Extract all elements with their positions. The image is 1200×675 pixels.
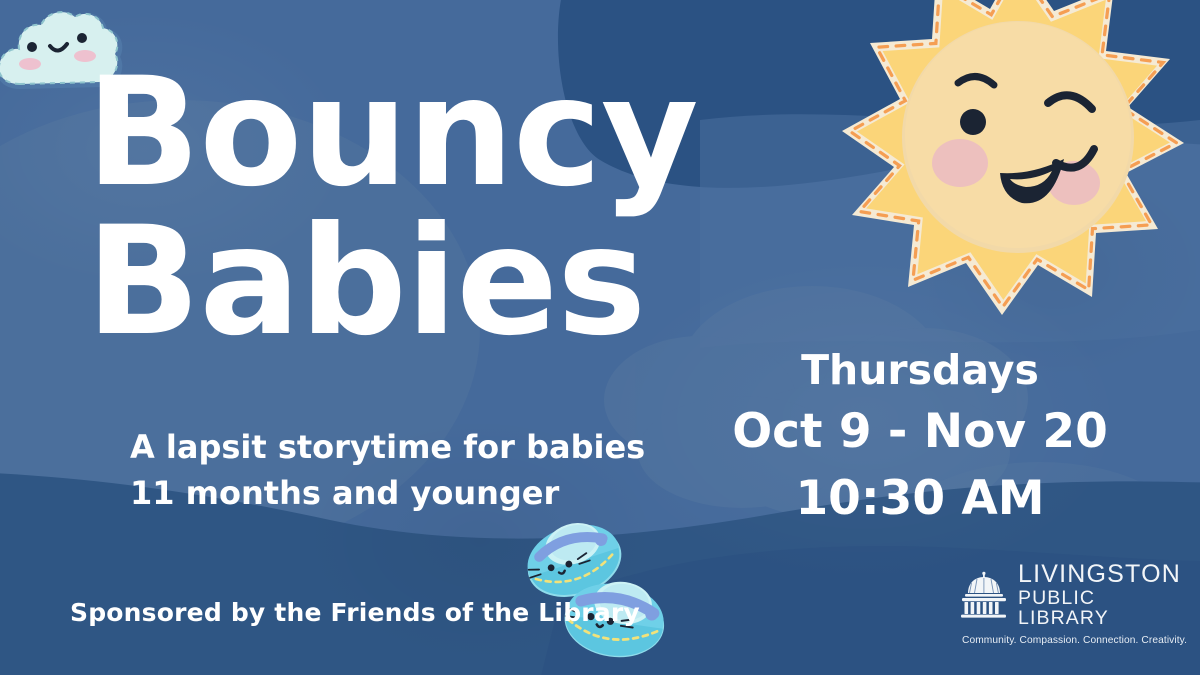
- subtitle-line-2: 11 months and younger: [130, 470, 730, 516]
- title-line-2: Babies: [86, 211, 746, 354]
- schedule-dates: Oct 9 - Nov 20: [720, 402, 1120, 462]
- subtitle: A lapsit storytime for babies 11 months …: [130, 424, 730, 517]
- poster-canvas: Bouncy Babies A lapsit storytime for bab…: [0, 0, 1200, 675]
- library-logo: LIVINGSTON PUBLIC LIBRARY Community. Com…: [958, 562, 1173, 646]
- logo-name: LIVINGSTON: [1018, 562, 1181, 587]
- logo-wordmark: LIVINGSTON PUBLIC LIBRARY: [1018, 562, 1181, 628]
- sponsor-text: Sponsored by the Friends of the Library: [70, 598, 640, 627]
- logo-subname: PUBLIC LIBRARY: [1018, 589, 1181, 628]
- logo-row: LIVINGSTON PUBLIC LIBRARY: [958, 562, 1181, 628]
- library-dome-icon: [958, 571, 1010, 619]
- schedule-time: 10:30 AM: [720, 469, 1120, 529]
- subtitle-line-1: A lapsit storytime for babies: [130, 424, 730, 470]
- logo-tagline: Community. Compassion. Connection. Creat…: [962, 635, 1187, 646]
- title-line-1: Bouncy: [86, 62, 746, 205]
- schedule-day: Thursdays: [720, 344, 1120, 396]
- page-title: Bouncy Babies: [86, 62, 746, 353]
- baby-shoes-icon: [498, 498, 690, 673]
- sun-winking-face-icon: [836, 0, 1200, 322]
- schedule-details: Thursdays Oct 9 - Nov 20 10:30 AM: [720, 344, 1120, 529]
